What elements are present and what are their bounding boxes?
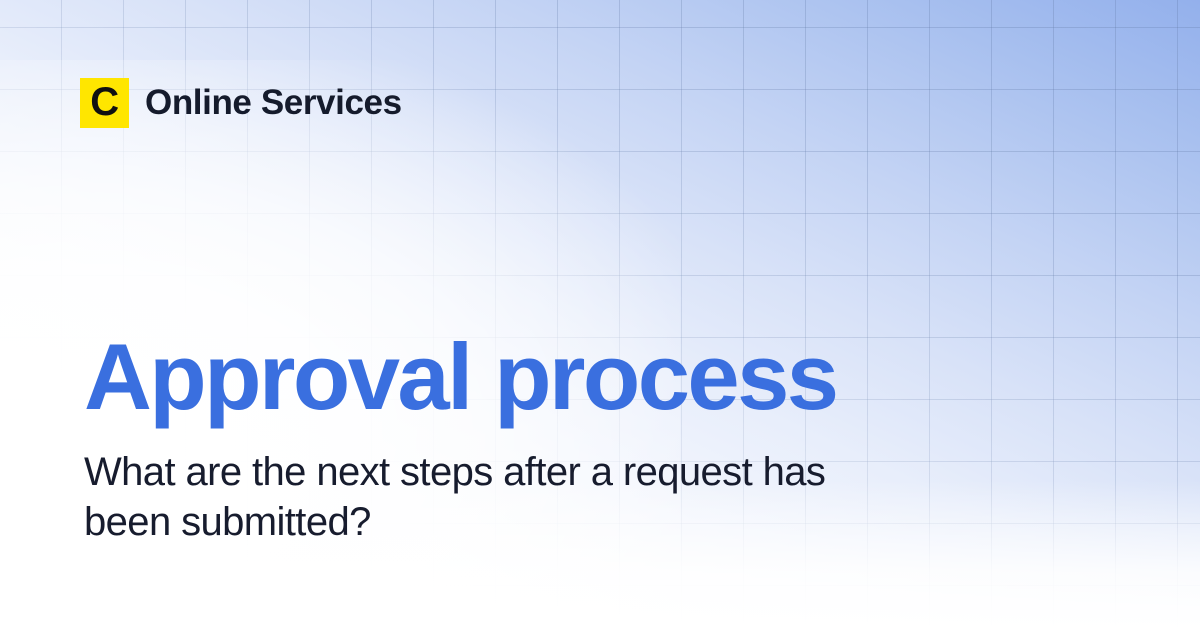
- brand-name: Online Services: [145, 83, 402, 123]
- page-subtitle: What are the next steps after a request …: [84, 448, 844, 547]
- brand-mark-letter: C: [90, 82, 118, 122]
- hero-text-block: Approval process What are the next steps…: [84, 330, 964, 547]
- brand-c-logo-icon: C: [80, 78, 129, 128]
- brand-lockup: C Online Services: [80, 78, 402, 128]
- hero-banner: C Online Services Approval process What …: [0, 0, 1200, 630]
- page-title: Approval process: [84, 330, 964, 424]
